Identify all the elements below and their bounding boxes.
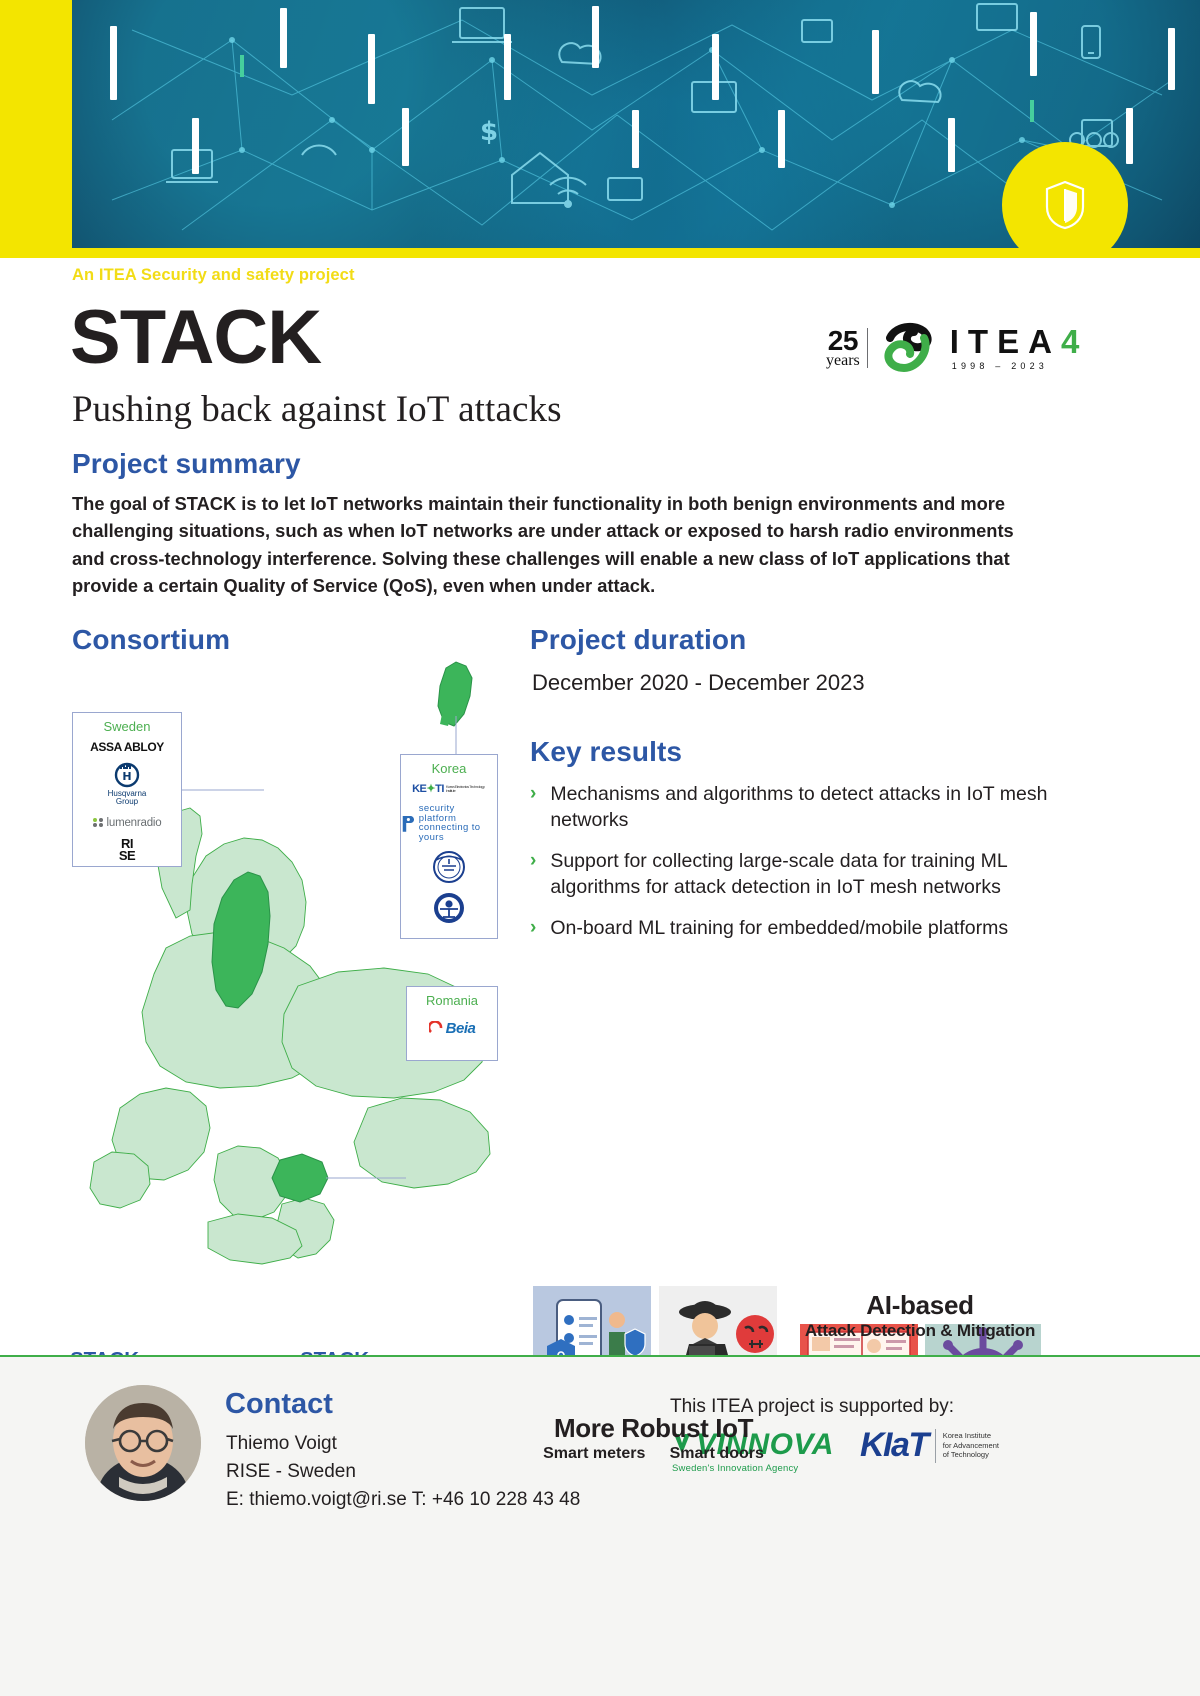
page-subtitle: Pushing back against IoT attacks — [72, 388, 562, 431]
more-robust-iot-caption: More Robust IoT Smart meters Smart doors — [531, 1413, 776, 1463]
hero-tick — [1030, 12, 1037, 76]
consortium-heading: Consortium — [72, 624, 230, 656]
contact-heading: Contact — [225, 1388, 333, 1421]
anniversary-word: years — [826, 354, 860, 369]
itea-four: 4 — [1061, 323, 1088, 360]
partner-logo-keti: KE✦TI Korea Electronics Technology Insti… — [412, 782, 486, 795]
key-result-text: On-board ML training for embedded/mobile… — [550, 916, 1008, 942]
list-item: › On-board ML training for embedded/mobi… — [530, 916, 1050, 942]
hero-tick — [1126, 108, 1133, 164]
project-kicker: An ITEA Security and safety project — [72, 266, 355, 285]
country-label-korea: Korea — [432, 761, 467, 776]
project-duration-heading: Project duration — [530, 624, 746, 656]
partner-logo-security-platform: securityplatform connecting to yours — [401, 804, 497, 842]
lumenradio-text: lumenradio — [107, 817, 162, 829]
hero-tick — [110, 26, 117, 100]
chevron-right-icon: › — [530, 916, 536, 942]
page-title: STACK — [70, 300, 321, 376]
contact-email-phone: E: thiemo.voigt@ri.se T: +46 10 228 43 4… — [226, 1486, 580, 1514]
hero-tick — [280, 8, 287, 68]
ai-caption-line1: AI-based — [790, 1290, 1050, 1321]
partner-logo-lumenradio: lumenradio — [93, 817, 162, 829]
hero-tick — [872, 30, 879, 94]
avatar — [85, 1385, 201, 1501]
partner-logo-beia: Beia — [429, 1020, 476, 1037]
soongsil-university-seal-icon — [432, 891, 466, 925]
hero-tick — [402, 108, 409, 166]
funder-logo-kiat: KIaT Korea Institutefor Advancementof Te… — [860, 1426, 999, 1465]
kiat-name: KIaT — [860, 1426, 928, 1465]
security-platform-icon — [401, 813, 416, 833]
hero-tick — [504, 34, 511, 100]
itea-swirl-glyph — [876, 320, 938, 376]
poster-page: $ — [0, 0, 1200, 1696]
key-result-text: Mechanisms and algorithms to detect atta… — [550, 782, 1050, 834]
security-platform-tagline: connecting to yours — [419, 823, 497, 842]
itea-wordmark-text: ITEA4 — [950, 325, 1089, 358]
key-result-text: Support for collecting large-scale data … — [550, 849, 1050, 901]
contact-name: Thiemo Voigt — [226, 1430, 580, 1458]
itea-logo: 25 years ITEA4 1998 – 2023 — [826, 318, 1116, 378]
ai-caption-line2: Attack Detection & Mitigation — [790, 1321, 1050, 1341]
beia-text: Beia — [446, 1020, 476, 1037]
itea-anniversary: 25 years — [826, 328, 868, 368]
security-platform-text: securityplatform — [419, 804, 497, 823]
hero-tick — [778, 110, 785, 168]
partner-box-sweden: Sweden ASSA ABLOY H HusqvarnaGroup lumen… — [72, 712, 182, 867]
kiat-divider — [935, 1429, 936, 1463]
country-label-romania: Romania — [426, 993, 478, 1008]
itea-years-range: 1998 – 2023 — [952, 361, 1089, 371]
project-summary-text: The goal of STACK is to let IoT networks… — [72, 490, 1040, 599]
svg-text:H: H — [122, 770, 131, 783]
lumenradio-mark-icon — [93, 818, 104, 827]
hero-tick — [712, 34, 719, 100]
chevron-right-icon: › — [530, 782, 536, 834]
vinnova-tagline: Sweden's Innovation Agency — [672, 1463, 834, 1474]
hero-tick — [192, 118, 199, 174]
hero-tick — [592, 6, 599, 68]
kiat-tagline: Korea Institutefor Advancementof Technol… — [943, 1431, 999, 1460]
svg-text:$: $ — [480, 117, 498, 147]
partner-box-romania: Romania Beia — [406, 986, 498, 1061]
itea-swirl-icon — [876, 320, 938, 376]
robust-caption-sublabels: Smart meters Smart doors — [531, 1445, 776, 1463]
partner-logo-husqvarna: HusqvarnaGroup — [108, 790, 147, 807]
list-item: › Mechanisms and algorithms to detect at… — [530, 782, 1050, 834]
consortium-map: Sweden ASSA ABLOY H HusqvarnaGroup lumen… — [68, 656, 508, 1356]
project-summary-heading: Project summary — [72, 448, 301, 480]
beia-swoosh-icon — [429, 1021, 444, 1036]
contact-photo — [85, 1385, 201, 1501]
hero-banner: $ — [0, 0, 1200, 258]
itea-wordmark: ITEA4 1998 – 2023 — [950, 325, 1089, 371]
smart-doors-label: Smart doors — [670, 1445, 764, 1463]
keti-mark: KE✦TI — [412, 782, 444, 795]
contact-details: Thiemo Voigt RISE - Sweden E: thiemo.voi… — [226, 1430, 580, 1514]
key-results-heading: Key results — [530, 736, 682, 768]
chevron-right-icon: › — [530, 849, 536, 901]
list-item: › Support for collecting large-scale dat… — [530, 849, 1050, 901]
keti-subtitle: Korea Electronics Technology Institute — [446, 785, 486, 793]
shield-icon — [1002, 142, 1128, 258]
itea-letters: ITEA — [950, 323, 1061, 360]
ai-based-caption: AI-based Attack Detection & Mitigation — [790, 1290, 1050, 1341]
anniversary-number: 25 — [828, 328, 858, 354]
key-results-list: › Mechanisms and algorithms to detect at… — [530, 782, 1050, 957]
hero-tick — [1168, 28, 1175, 90]
country-label-sweden: Sweden — [104, 719, 151, 734]
robust-caption-line1: More Robust IoT — [531, 1413, 776, 1444]
shield-glyph — [1043, 179, 1087, 231]
hero-tick — [948, 118, 955, 172]
seoul-national-university-seal-icon — [432, 850, 466, 884]
partner-logo-assa-abloy: ASSA ABLOY — [90, 740, 164, 754]
partner-box-korea: Korea KE✦TI Korea Electronics Technology… — [400, 754, 498, 939]
husqvarna-crown-icon: H — [114, 762, 140, 788]
smart-meters-label: Smart meters — [543, 1445, 645, 1463]
contact-org: RISE - Sweden — [226, 1458, 580, 1486]
romania-highlight — [272, 1154, 328, 1202]
hero-tick — [368, 34, 375, 104]
partner-logo-rise: RISE — [119, 838, 135, 863]
project-duration-text: December 2020 - December 2023 — [532, 670, 865, 696]
hero-tick — [632, 110, 639, 168]
hero-yellow-bar — [0, 0, 72, 258]
